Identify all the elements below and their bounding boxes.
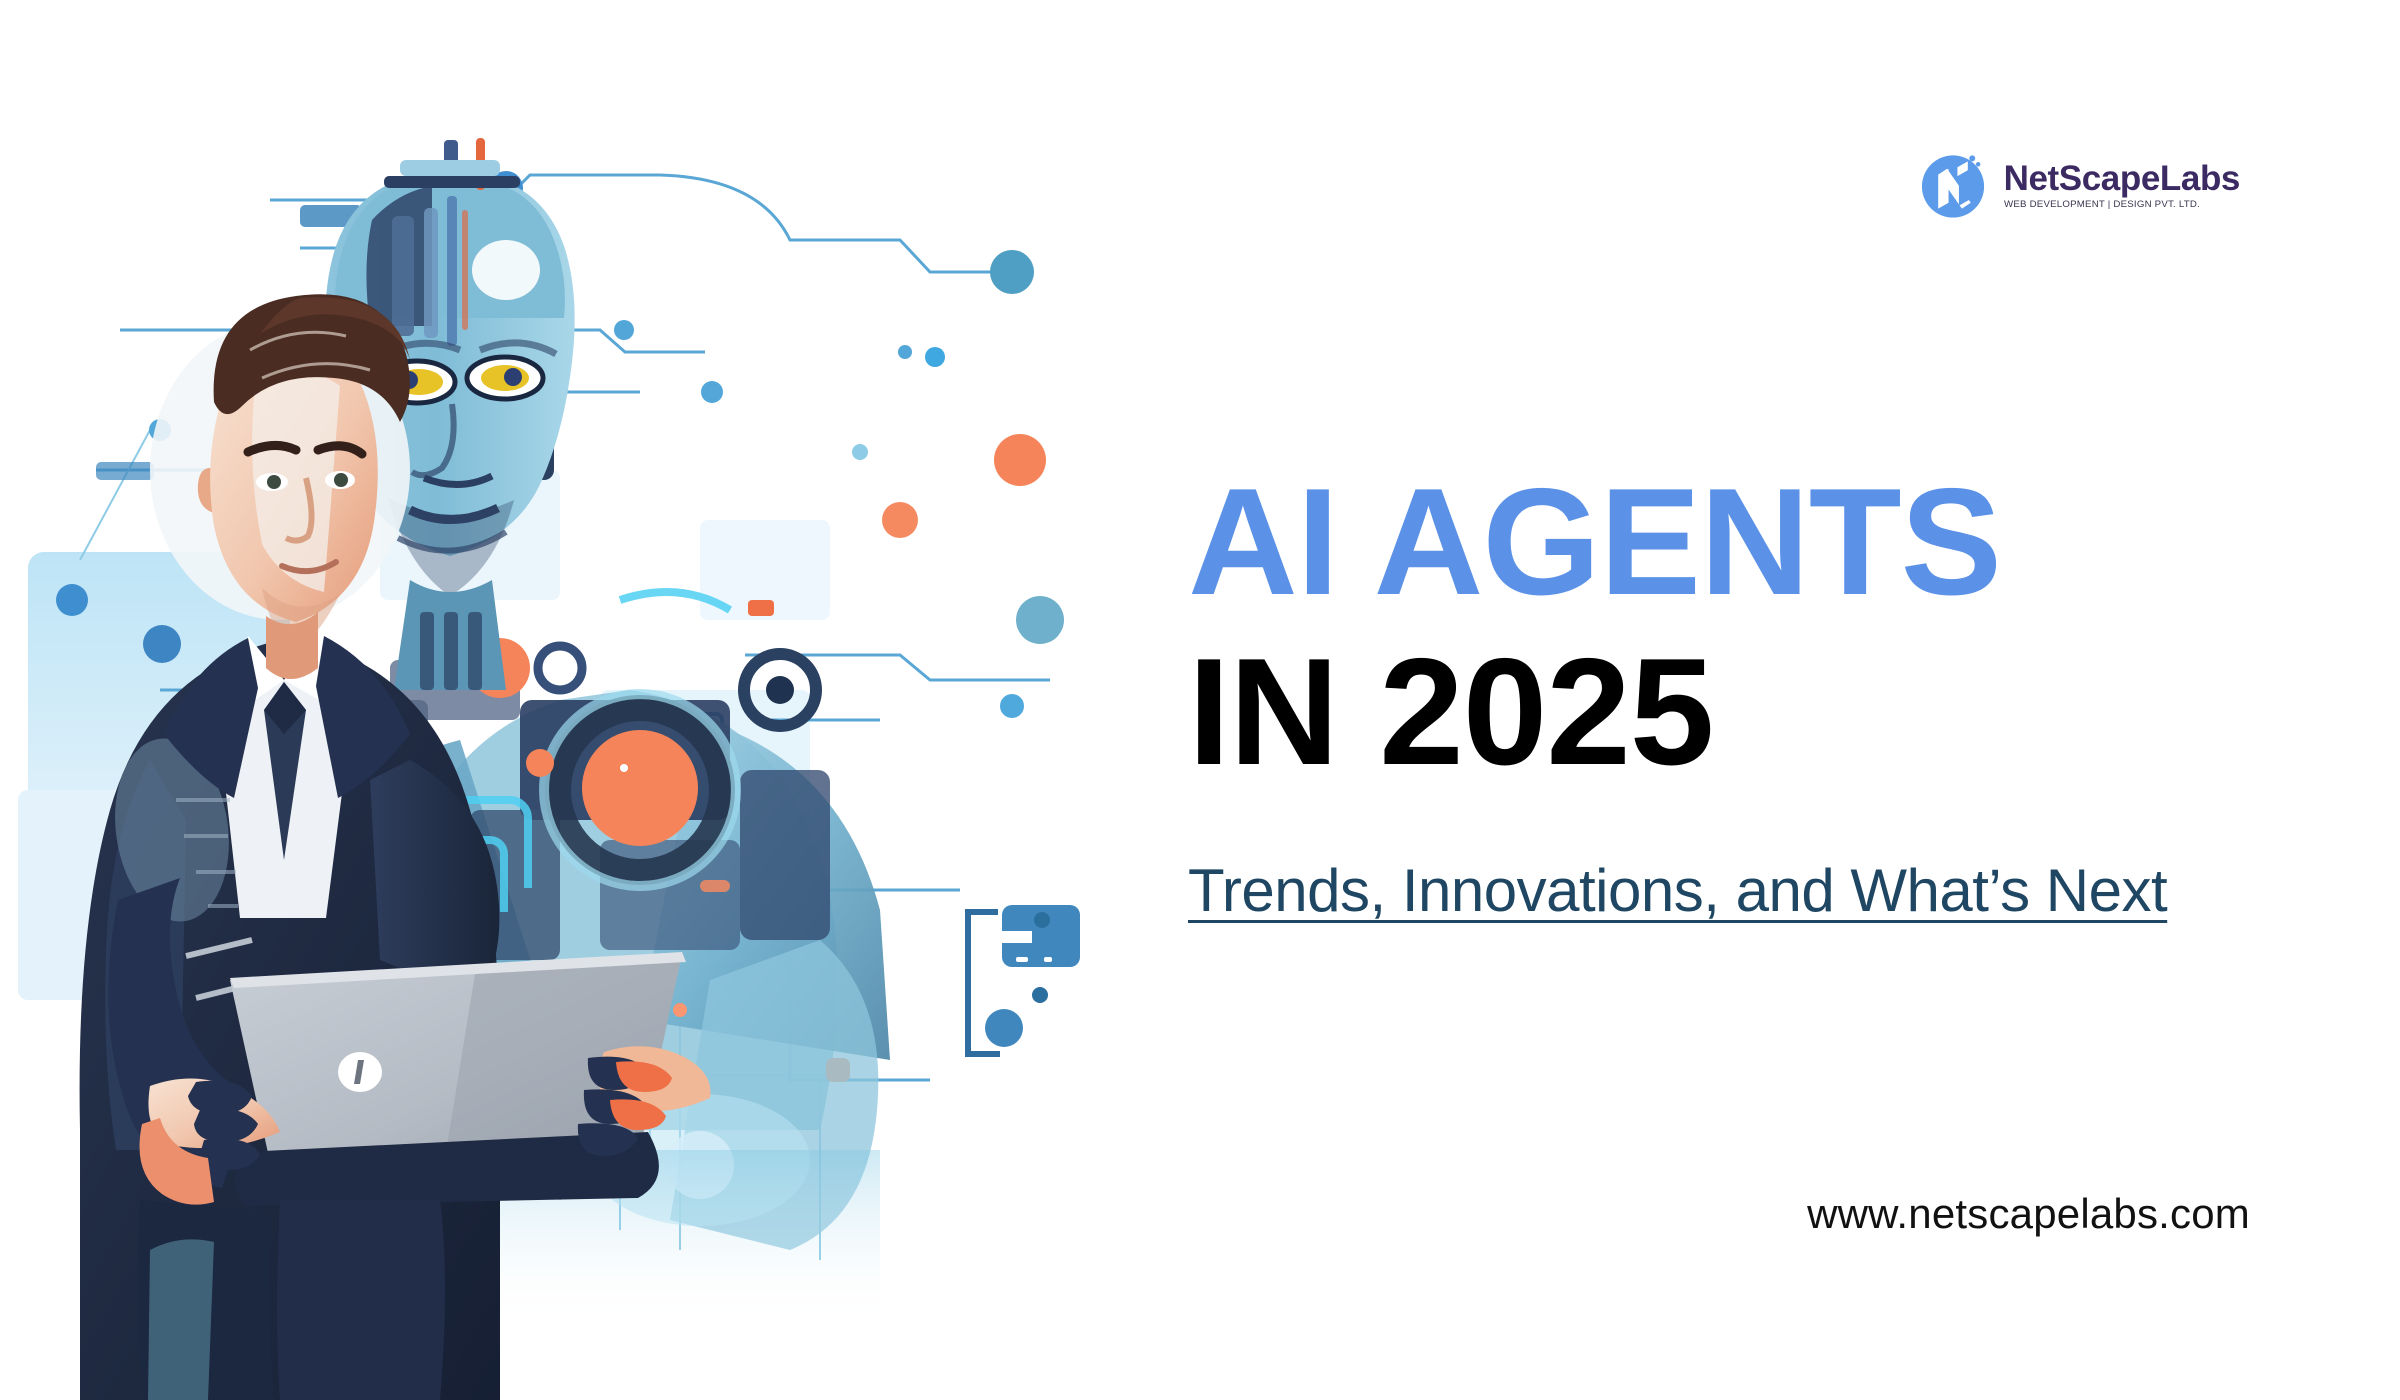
logo-tagline: WEB DEVELOPMENT | DESIGN PVT. LTD. bbox=[2004, 199, 2245, 210]
hero-illustration bbox=[0, 0, 1180, 1400]
headline-block: AI AGENTS IN 2025 Trends, Innovations, a… bbox=[1188, 470, 2328, 925]
page-title-line1: AI AGENTS bbox=[1188, 470, 2328, 616]
brand-logo[interactable]: NetScapeLabs WEB DEVELOPMENT | DESIGN PV… bbox=[1916, 148, 2240, 222]
chip-icon bbox=[968, 905, 1080, 1054]
page-subtitle: Trends, Innovations, and What’s Next bbox=[1188, 856, 2328, 925]
netscapelabs-n-circle-icon bbox=[1916, 148, 1990, 222]
logo-wordmark: NetScapeLabs bbox=[2004, 161, 2240, 196]
website-url[interactable]: www.netscapelabs.com bbox=[1807, 1190, 2250, 1238]
page-title-line2: IN 2025 bbox=[1188, 640, 2328, 786]
promo-banner: NetScapeLabs WEB DEVELOPMENT | DESIGN PV… bbox=[0, 0, 2400, 1400]
